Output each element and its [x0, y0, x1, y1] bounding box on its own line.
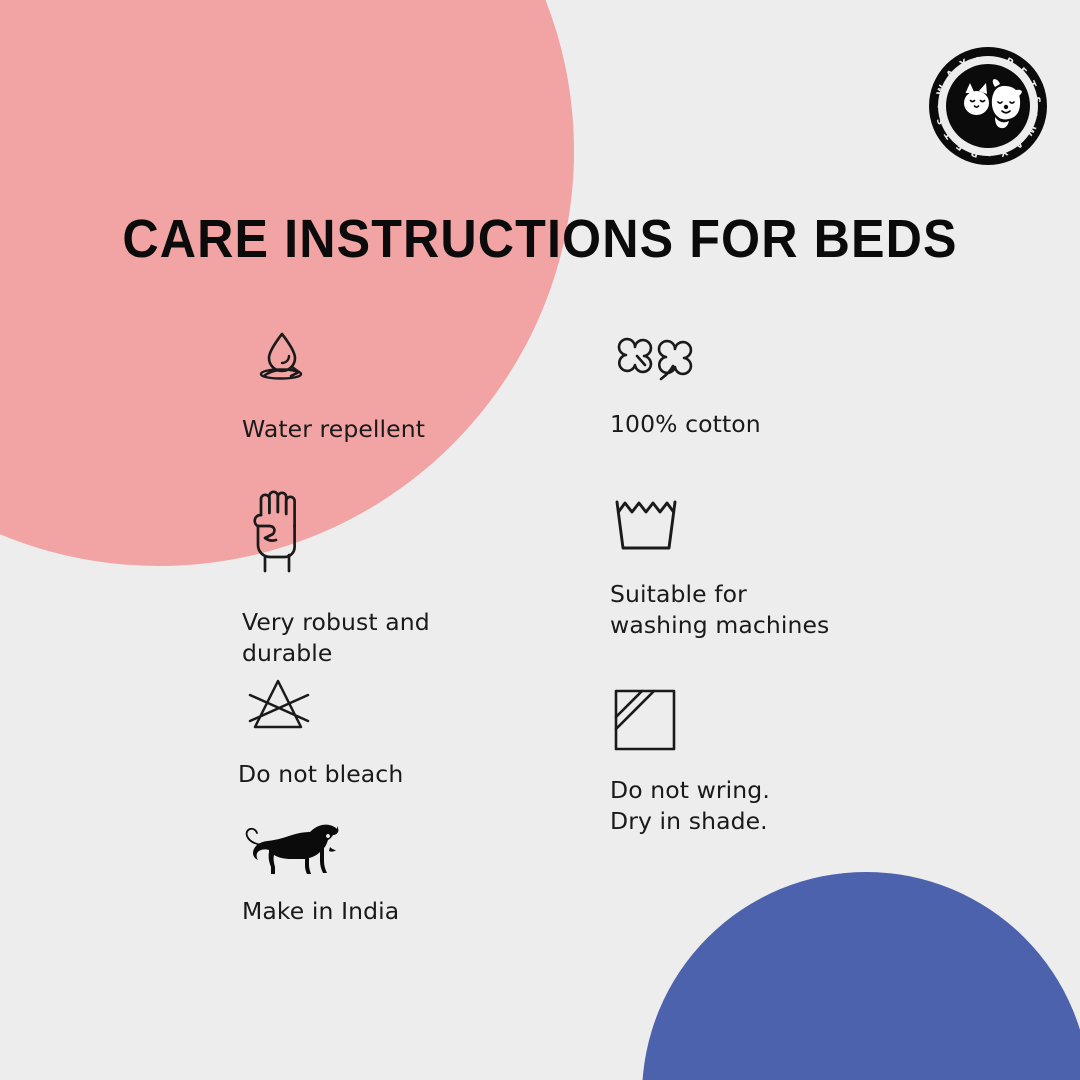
care-item-dry-in-shade: Do not wring. Dry in shade.: [610, 685, 770, 837]
poster-canvas: P E T S · W A Y · P E T S · W A Y ·: [0, 0, 1080, 1080]
care-item-cotton: 100% cotton: [610, 335, 761, 440]
care-item-do-not-bleach: Do not bleach: [238, 675, 403, 790]
care-item-label: Make in India: [242, 896, 399, 927]
care-item-label: Very robust and durable: [242, 607, 430, 669]
raised-fist-icon: [242, 485, 430, 581]
care-item-washing-machine: Suitable for washing machines: [610, 495, 829, 641]
care-item-very-robust: Very robust and durable: [242, 485, 430, 669]
care-item-make-in-india: Make in India: [242, 820, 399, 927]
care-item-label: Do not bleach: [238, 759, 403, 790]
cotton-boll-icon: [610, 335, 761, 391]
pink-decorative-circle: [0, 0, 574, 566]
do-not-bleach-icon: [238, 675, 403, 741]
care-item-label: Do not wring. Dry in shade.: [610, 775, 770, 837]
care-item-label: Water repellent: [242, 414, 425, 445]
pets-way-badge-logo: P E T S · W A Y · P E T S · W A Y ·: [929, 47, 1047, 165]
brand-logo[interactable]: P E T S · W A Y · P E T S · W A Y ·: [929, 47, 1047, 165]
lion-make-in-india-icon: [242, 820, 399, 878]
page-title: CARE INSTRUCTIONS FOR BEDS: [38, 208, 1042, 270]
blue-decorative-circle: [642, 872, 1080, 1080]
wash-tub-icon: [610, 495, 829, 561]
dry-in-shade-square-icon: [610, 685, 770, 757]
care-item-label: Suitable for washing machines: [610, 579, 829, 641]
water-drop-repellent-icon: [242, 330, 425, 392]
care-item-label: 100% cotton: [610, 409, 761, 440]
care-item-water-repellent: Water repellent: [242, 330, 425, 445]
